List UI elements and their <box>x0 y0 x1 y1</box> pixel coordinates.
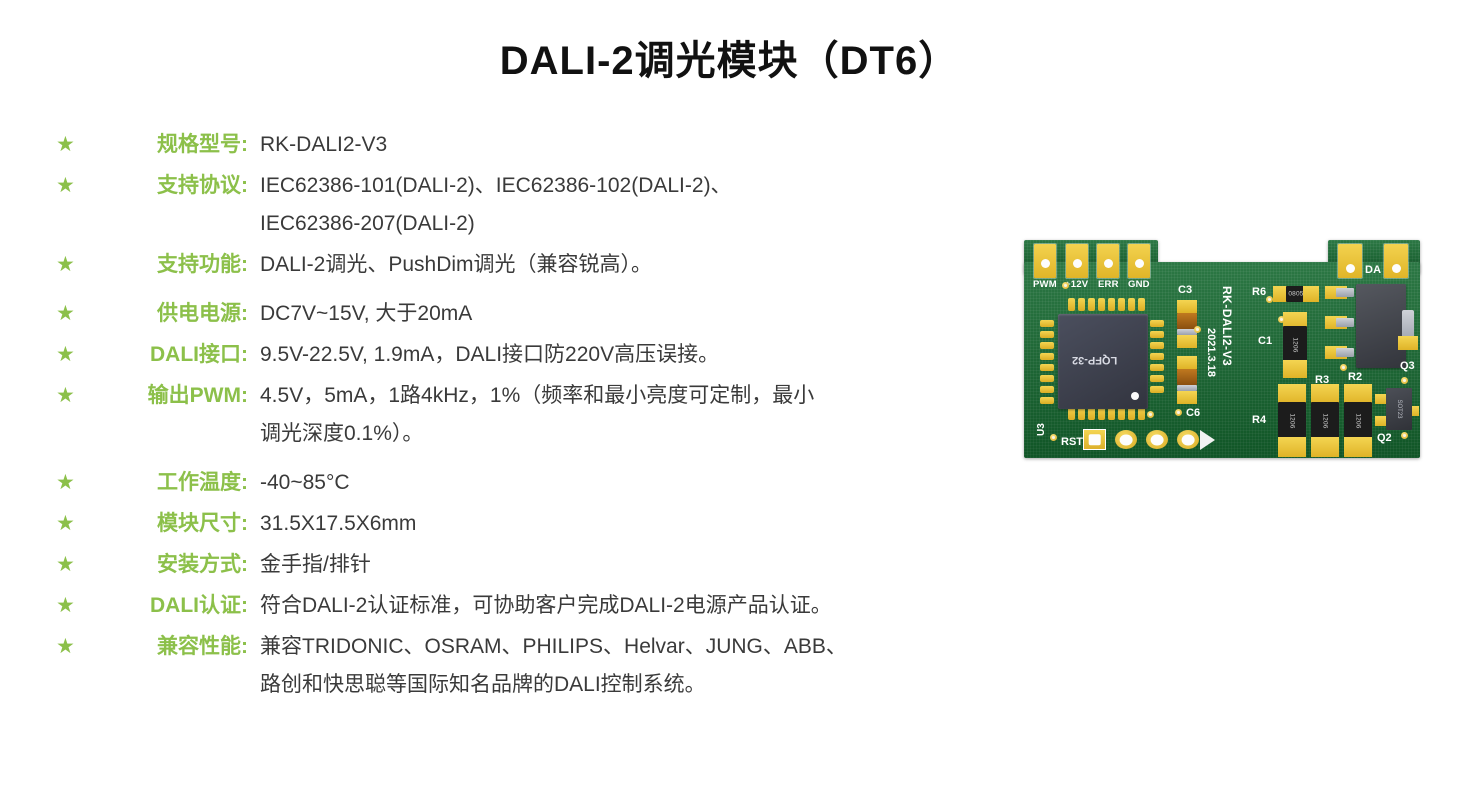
spec-value-power: DC7V~15V, 大于20mA <box>248 295 976 333</box>
spec-label-protocol: 支持协议: <box>84 167 248 205</box>
spec-list: ★ 规格型号: RK-DALI2-V3 ★ 支持协议: IEC62386-101… <box>56 126 976 707</box>
pcb-pad-da-1 <box>1338 244 1362 278</box>
pcb-solder-pad <box>1311 437 1339 457</box>
spec-value-line: IEC62386-207(DALI-2) <box>260 205 976 243</box>
pcb-label-err: ERR <box>1098 279 1119 290</box>
pcb-mcu-lead <box>1138 298 1145 311</box>
pcb-testpad <box>1177 430 1199 449</box>
pcb-mcu-lead <box>1068 298 1075 311</box>
pcb-label-da: DA <box>1365 264 1381 276</box>
page-title: DALI-2调光模块（DT6） <box>0 28 1459 86</box>
pcb-capacitor-c1: 1206 <box>1283 326 1307 363</box>
spec-row-dimensions: ★ 模块尺寸: 31.5X17.5X6mm <box>56 505 976 543</box>
pcb-component-code: 1206 <box>1355 407 1362 435</box>
pcb-pad-pwm <box>1034 244 1056 278</box>
spec-row-function: ★ 支持功能: DALI-2调光、PushDim调光（兼容锐高）。 <box>56 246 976 284</box>
pcb-silk-q2: Q2 <box>1377 432 1392 444</box>
pcb-solder-pad <box>1398 336 1418 350</box>
pcb-silk-r4: R4 <box>1252 414 1266 426</box>
pcb-silk-c3: C3 <box>1178 284 1192 296</box>
pcb-component-lead <box>1336 348 1354 357</box>
pcb-silk-r2: R2 <box>1348 371 1362 383</box>
spec-value-compatibility: 兼容TRIDONIC、OSRAM、PHILIPS、Helvar、JUNG、ABB… <box>248 628 976 704</box>
pcb-silk-u3: U3 <box>1036 423 1047 436</box>
pcb-silk-date-code: 2021.3.18 <box>1205 328 1217 377</box>
spec-label-power: 供电电源: <box>84 295 248 333</box>
pcb-solder-pad <box>1278 384 1306 404</box>
spec-row-power: ★ 供电电源: DC7V~15V, 大于20mA <box>56 295 976 333</box>
spec-row-compatibility: ★ 兼容性能: 兼容TRIDONIC、OSRAM、PHILIPS、Helvar、… <box>56 628 976 704</box>
pcb-mcu-lead <box>1150 353 1164 360</box>
star-icon: ★ <box>56 295 84 333</box>
pcb-component-code: SOT23 <box>1396 396 1402 422</box>
pcb-render: PWM +12V ERR GND DA <box>1020 236 1420 464</box>
pcb-mcu-lead <box>1150 342 1164 349</box>
pcb-pad-err <box>1097 244 1119 278</box>
spec-value-dimensions: 31.5X17.5X6mm <box>248 505 976 543</box>
spec-label-mounting: 安装方式: <box>84 546 248 584</box>
pcb-mcu-lead <box>1150 375 1164 382</box>
pcb-polarity-marker-icon <box>1200 430 1215 450</box>
pcb-via <box>1401 432 1408 439</box>
star-icon: ★ <box>56 167 84 205</box>
star-icon: ★ <box>56 126 84 164</box>
pcb-via <box>1175 409 1182 416</box>
pcb-mcu-lead <box>1040 386 1054 393</box>
pcb-testpad <box>1146 430 1168 449</box>
pcb-mcu-lead <box>1040 375 1054 382</box>
pcb-component-lead <box>1336 318 1354 327</box>
pcb-mcu-lead <box>1040 397 1054 404</box>
spec-value-certification: 符合DALI-2认证标准，可协助客户完成DALI-2电源产品认证。 <box>248 587 976 625</box>
pcb-mcu-lead <box>1040 320 1054 327</box>
pcb-mcu-lead <box>1118 298 1125 311</box>
pcb-product-image: PWM +12V ERR GND DA <box>1020 236 1420 464</box>
spec-label-temperature: 工作温度: <box>84 464 248 502</box>
pcb-mcu-lead <box>1150 386 1164 393</box>
spec-value-line: DC7V~15V, 大于20mA <box>260 295 976 333</box>
spec-value-line: 9.5V-22.5V, 1.9mA，DALI接口防220V高压误接。 <box>260 336 976 374</box>
spec-value-function: DALI-2调光、PushDim调光（兼容锐高）。 <box>248 246 976 284</box>
pcb-mcu-lead <box>1150 331 1164 338</box>
spec-label-dali-interface: DALI接口: <box>84 336 248 374</box>
pcb-solder-pad <box>1344 437 1372 457</box>
pcb-mcu-lead <box>1128 298 1135 311</box>
pcb-silk-r6: R6 <box>1252 286 1266 298</box>
product-spec-page: DALI-2调光模块（DT6） ★ 规格型号: RK-DALI2-V3 ★ 支持… <box>0 0 1459 792</box>
pcb-via <box>1340 364 1347 371</box>
pcb-pad-gnd <box>1128 244 1150 278</box>
pcb-solder-pad <box>1344 384 1372 404</box>
spec-value-line: 金手指/排针 <box>260 546 976 584</box>
pcb-transformer-q3 <box>1356 284 1406 368</box>
spec-label-pwm-output: 输出PWM: <box>84 377 248 415</box>
spec-label-compatibility: 兼容性能: <box>84 628 248 666</box>
pcb-mcu-lead <box>1098 298 1105 311</box>
pcb-component-lead <box>1336 288 1354 297</box>
spec-row-pwm-output: ★ 输出PWM: 4.5V，5mA，1路4kHz，1%（频率和最小亮度可定制，最… <box>56 377 976 453</box>
pcb-solder-pad <box>1177 391 1197 404</box>
pcb-solder-pad <box>1177 300 1197 313</box>
pcb-component-code: 1206 <box>1292 333 1299 357</box>
pcb-via <box>1278 316 1285 323</box>
pcb-mcu-lead <box>1040 331 1054 338</box>
pcb-solder-pad <box>1283 360 1307 378</box>
spec-value-line: 路创和快思聪等国际知名品牌的DALI控制系统。 <box>260 666 976 704</box>
pcb-via <box>1147 411 1154 418</box>
pcb-solder-pad <box>1311 384 1339 404</box>
pcb-mcu-lead <box>1150 320 1164 327</box>
pcb-silk-q3: Q3 <box>1400 360 1415 372</box>
spec-value-line: 调光深度0.1%）。 <box>260 415 976 453</box>
star-icon: ★ <box>56 505 84 543</box>
star-icon: ★ <box>56 336 84 374</box>
pcb-component-code: 1206 <box>1289 407 1296 435</box>
pcb-mcu-lead <box>1150 364 1164 371</box>
star-icon: ★ <box>56 464 84 502</box>
pcb-mcu-lead <box>1078 298 1085 311</box>
star-icon: ★ <box>56 546 84 584</box>
spec-row-protocol: ★ 支持协议: IEC62386-101(DALI-2)、IEC62386-10… <box>56 167 976 243</box>
star-icon: ★ <box>56 246 84 284</box>
pcb-testpad <box>1115 430 1137 449</box>
pcb-resistor-r3: 1206 <box>1311 402 1339 440</box>
pcb-mcu-lead <box>1040 353 1054 360</box>
spec-label-function: 支持功能: <box>84 246 248 284</box>
pcb-label-gnd: GND <box>1128 279 1150 290</box>
spec-label-dimensions: 模块尺寸: <box>84 505 248 543</box>
pcb-label-pwm: PWM <box>1033 279 1057 290</box>
pcb-label-lqfp32: LQFP-32 <box>1072 354 1117 366</box>
star-icon: ★ <box>56 377 84 415</box>
pcb-solder-pad <box>1177 335 1197 348</box>
pcb-pad-12v <box>1066 244 1088 278</box>
spec-value-pwm-output: 4.5V，5mA，1路4kHz，1%（频率和最小亮度可定制，最小 调光深度0.1… <box>248 377 976 453</box>
spec-label-model: 规格型号: <box>84 126 248 164</box>
spec-value-mounting: 金手指/排针 <box>248 546 976 584</box>
pcb-testpad-rst <box>1084 430 1105 449</box>
pcb-solder-pad <box>1278 437 1306 457</box>
pcb-silk-part-number: RK-DALI2-V3 <box>1220 286 1234 366</box>
spec-value-temperature: -40~85°C <box>248 464 976 502</box>
pcb-capacitor-c6 <box>1177 369 1197 385</box>
pcb-mcu-lead <box>1040 364 1054 371</box>
star-icon: ★ <box>56 628 84 666</box>
spec-value-line: 4.5V，5mA，1路4kHz，1%（频率和最小亮度可定制，最小 <box>260 377 976 415</box>
pcb-mcu-lead <box>1040 342 1054 349</box>
spec-row-mounting: ★ 安装方式: 金手指/排针 <box>56 546 976 584</box>
pcb-via <box>1266 296 1273 303</box>
spec-row-certification: ★ DALI认证: 符合DALI-2认证标准，可协助客户完成DALI-2电源产品… <box>56 587 976 625</box>
star-icon: ★ <box>56 587 84 625</box>
pcb-silk-c6: C6 <box>1186 407 1200 419</box>
pcb-silk-rst: RST <box>1061 436 1083 448</box>
spec-value-line: -40~85°C <box>260 464 976 502</box>
pcb-silk-c1: C1 <box>1258 335 1272 347</box>
spec-value-line: 兼容TRIDONIC、OSRAM、PHILIPS、Helvar、JUNG、ABB… <box>260 628 976 666</box>
pcb-pad-da-2 <box>1384 244 1408 278</box>
spec-value-model: RK-DALI2-V3 <box>248 126 976 164</box>
spec-value-line: 31.5X17.5X6mm <box>260 505 976 543</box>
pcb-via <box>1050 434 1057 441</box>
spec-row-dali-interface: ★ DALI接口: 9.5V-22.5V, 1.9mA，DALI接口防220V高… <box>56 336 976 374</box>
pcb-mcu-lead <box>1088 298 1095 311</box>
spec-value-protocol: IEC62386-101(DALI-2)、IEC62386-102(DALI-2… <box>248 167 976 243</box>
pcb-solder-pad <box>1303 286 1319 302</box>
pcb-mcu-lead <box>1108 298 1115 311</box>
spec-label-certification: DALI认证: <box>84 587 248 625</box>
spec-value-line: RK-DALI2-V3 <box>260 126 976 164</box>
spec-value-line: DALI-2调光、PushDim调光（兼容锐高）。 <box>260 246 976 284</box>
spec-row-temperature: ★ 工作温度: -40~85°C <box>56 464 976 502</box>
pcb-component-code: 1206 <box>1322 407 1329 435</box>
pcb-via <box>1194 326 1201 333</box>
pcb-solder-pad <box>1177 356 1197 369</box>
pcb-via <box>1062 282 1069 289</box>
spec-value-line: 符合DALI-2认证标准，可协助客户完成DALI-2电源产品认证。 <box>260 587 976 625</box>
pcb-transistor-q2: SOT23 <box>1386 388 1412 430</box>
pcb-via <box>1401 377 1408 384</box>
spec-row-model: ★ 规格型号: RK-DALI2-V3 <box>56 126 976 164</box>
spec-value-dali-interface: 9.5V-22.5V, 1.9mA，DALI接口防220V高压误接。 <box>248 336 976 374</box>
pcb-resistor-r2: 1206 <box>1344 402 1372 440</box>
spec-value-line: IEC62386-101(DALI-2)、IEC62386-102(DALI-2… <box>260 167 976 205</box>
pcb-resistor-r4: 1206 <box>1278 402 1306 440</box>
